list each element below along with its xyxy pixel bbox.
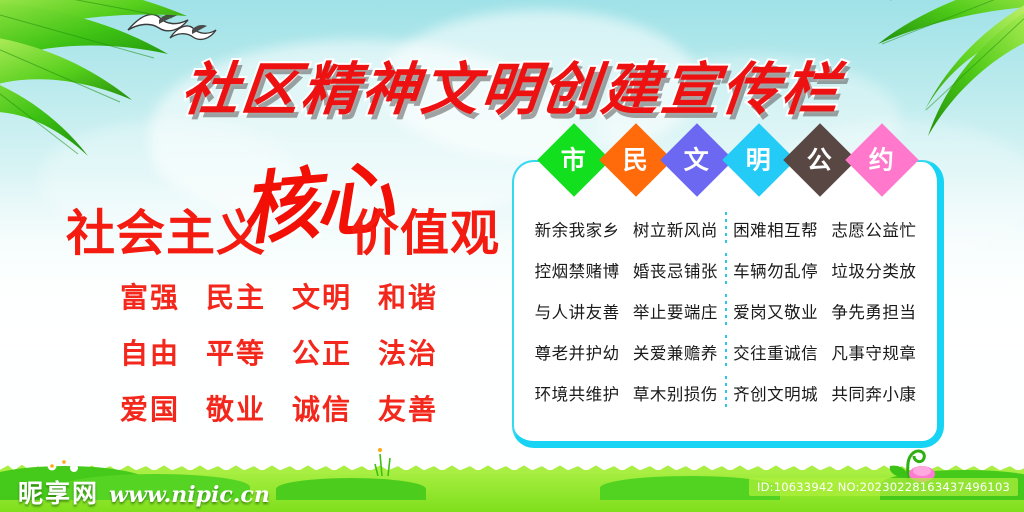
pact-cell: 环境共维护 — [535, 381, 620, 405]
headline-main-text: 社会主义 — [66, 194, 266, 265]
pact-cell: 交往重诚信 — [733, 340, 818, 364]
pact-cell: 尊老并护幼 — [535, 340, 620, 364]
pact-cell: 关爱兼赡养 — [633, 340, 718, 364]
pact-cell: 控烟禁赌博 — [535, 258, 620, 282]
watermark: 昵享网 www.nipic.cn — [18, 474, 270, 510]
image-id-badge: ID:10633942 NO:20230228163437496103 — [749, 478, 1018, 496]
values-row: 富强 民主 文明 和谐 — [58, 276, 498, 316]
pact-cell: 争先勇担当 — [831, 299, 916, 323]
value-word: 平等 — [206, 332, 266, 372]
pact-cell: 困难相互帮 — [733, 217, 818, 241]
heading-diamond-char: 文 — [685, 147, 710, 172]
pact-cell: 新余我家乡 — [535, 217, 620, 241]
value-word: 自由 — [120, 332, 180, 372]
table-row: 控烟禁赌博 婚丧忌铺张 车辆勿乱停 垃圾分类放 — [528, 249, 923, 290]
heading-diamond-char: 明 — [746, 147, 771, 172]
value-word: 富强 — [120, 276, 180, 316]
pact-cell: 共同奔小康 — [831, 381, 916, 405]
grass-blades-icon — [0, 464, 1024, 474]
watermark-url: www.nipic.cn — [109, 482, 270, 508]
pact-cell: 志愿公益忙 — [831, 217, 916, 241]
value-word: 诚信 — [292, 388, 352, 428]
value-word: 公正 — [292, 332, 352, 372]
core-values-block: 社会主义 核心 价值观 富强 民主 文明 和谐 自由 平等 公正 法治 爱国 敬… — [58, 150, 498, 428]
table-row: 新余我家乡 树立新风尚 困难相互帮 志愿公益忙 — [528, 208, 923, 249]
poster-canvas: 社区精神文明创建宣传栏 社会主义 核心 价值观 富强 民主 文明 和谐 自由 平… — [0, 0, 1024, 512]
headline-tail-text: 价值观 — [350, 194, 500, 265]
pact-cell: 垃圾分类放 — [831, 258, 916, 282]
value-word: 敬业 — [206, 388, 266, 428]
value-word: 文明 — [292, 276, 352, 316]
value-word: 爱国 — [120, 388, 180, 428]
heading-diamond: 约 — [845, 123, 919, 197]
pact-cell: 树立新风尚 — [633, 217, 718, 241]
heading-diamond-char: 公 — [808, 147, 833, 172]
heading-diamond-char: 约 — [869, 147, 894, 172]
pact-cell: 车辆勿乱停 — [733, 258, 818, 282]
bush-shape — [276, 478, 426, 500]
pact-cell: 齐创文明城 — [733, 381, 818, 405]
flower-icon — [364, 442, 404, 476]
values-row: 爱国 敬业 诚信 友善 — [58, 388, 498, 428]
pact-heading-diamonds: 市 民 文 明 公 约 — [548, 132, 908, 188]
pact-cell: 爱岗又敬业 — [733, 299, 818, 323]
pact-cell: 草木别损伤 — [633, 381, 718, 405]
values-row: 自由 平等 公正 法治 — [58, 332, 498, 372]
pact-cell: 举止要端庄 — [633, 299, 718, 323]
value-word: 友善 — [378, 388, 438, 428]
value-word: 法治 — [378, 332, 438, 372]
pact-cell: 婚丧忌铺张 — [633, 258, 718, 282]
value-word: 民主 — [206, 276, 266, 316]
pact-cell: 与人讲友善 — [535, 299, 620, 323]
citizen-pact-panel: 新余我家乡 树立新风尚 困难相互帮 志愿公益忙 控烟禁赌博 婚丧忌铺张 车辆勿乱… — [512, 160, 944, 448]
page-title: 社区精神文明创建宣传栏 — [0, 44, 1024, 126]
table-row: 环境共维护 草木别损伤 齐创文明城 共同奔小康 — [528, 372, 923, 413]
table-row: 尊老并护幼 关爱兼赡养 交往重诚信 凡事守规章 — [528, 331, 923, 372]
heading-diamond-char: 民 — [623, 147, 648, 172]
core-values-headline: 社会主义 核心 价值观 — [58, 150, 498, 260]
watermark-brand: 昵享网 — [18, 474, 99, 510]
table-row: 与人讲友善 举止要端庄 爱岗又敬业 争先勇担当 — [528, 290, 923, 331]
value-word: 和谐 — [378, 276, 438, 316]
pact-cell: 凡事守规章 — [831, 340, 916, 364]
pact-table: 新余我家乡 树立新风尚 困难相互帮 志愿公益忙 控烟禁赌博 婚丧忌铺张 车辆勿乱… — [514, 208, 937, 413]
heading-diamond-char: 市 — [561, 147, 586, 172]
